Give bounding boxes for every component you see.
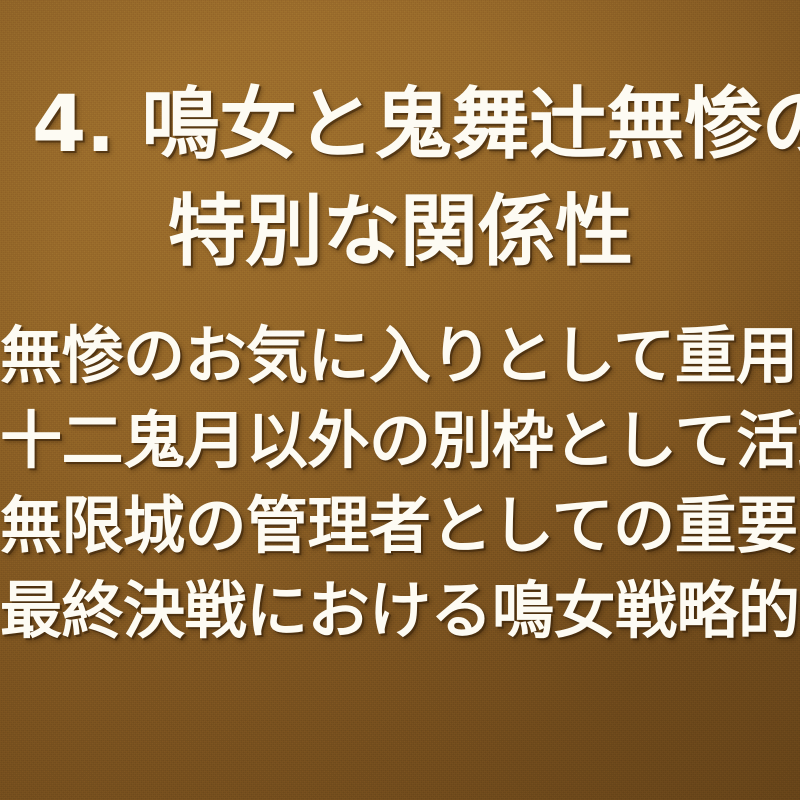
- slide-canvas: 4. 鳴女と鬼舞辻無惨の 特別な関係性 無惨のお気に入りとして重用された 十二鬼…: [0, 0, 800, 800]
- body-line-4: 最終決戦における鳴女戦略的な位置づ: [0, 568, 800, 653]
- slide-title: 4. 鳴女と鬼舞辻無惨の 特別な関係性: [0, 72, 800, 286]
- slide-content: 4. 鳴女と鬼舞辻無惨の 特別な関係性 無惨のお気に入りとして重用された 十二鬼…: [0, 0, 800, 800]
- slide-body: 無惨のお気に入りとして重用された 十二鬼月以外の別枠として活動してい 無限城の管…: [0, 313, 800, 653]
- body-line-1: 無惨のお気に入りとして重用された: [0, 313, 800, 398]
- title-line-1: 4. 鳴女と鬼舞辻無惨の: [32, 72, 800, 179]
- body-line-2: 十二鬼月以外の別枠として活動してい: [0, 398, 800, 483]
- title-line-2: 特別な関係性: [0, 179, 800, 286]
- body-line-3: 無限城の管理者としての重要な役割: [0, 483, 800, 568]
